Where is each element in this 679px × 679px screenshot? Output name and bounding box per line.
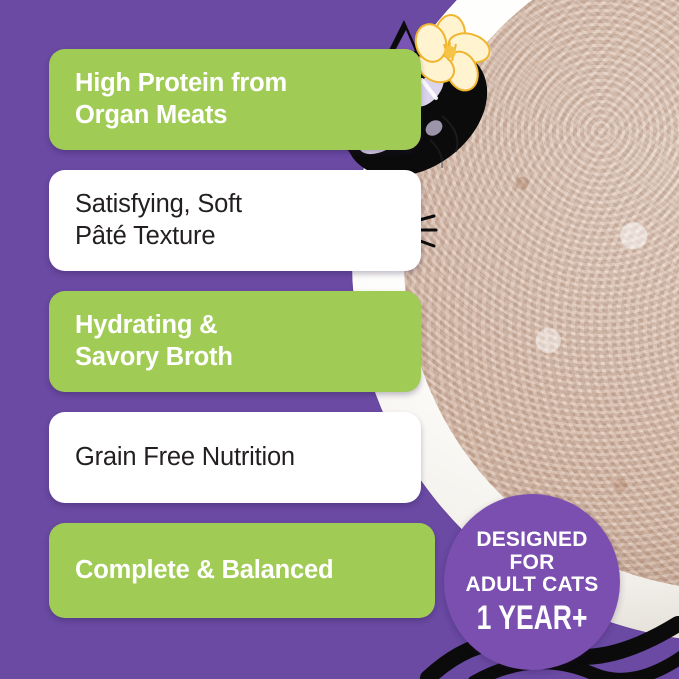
age-badge-line-1: DESIGNED — [476, 529, 587, 552]
benefit-label-grain-free: Grain Free Nutrition — [75, 442, 295, 474]
product-feature-graphic: High Protein from Organ Meats Satisfying… — [0, 0, 679, 679]
benefit-label-soft-pate: Satisfying, Soft Pâté Texture — [75, 189, 242, 252]
benefit-label-high-protein: High Protein from Organ Meats — [75, 68, 287, 131]
benefit-label-hydrating-broth: Hydrating & Savory Broth — [75, 310, 233, 373]
benefit-card-hydrating-broth: Hydrating & Savory Broth — [49, 291, 421, 392]
age-badge-years: 1 YEAR+ — [477, 601, 588, 635]
benefit-card-soft-pate: Satisfying, Soft Pâté Texture — [49, 170, 421, 271]
benefit-card-grain-free: Grain Free Nutrition — [49, 412, 421, 503]
age-badge-line-3: ADULT CATS — [465, 574, 598, 597]
benefit-card-complete-balanced: Complete & Balanced — [49, 523, 435, 618]
benefits-list: High Protein from Organ Meats Satisfying… — [49, 49, 421, 638]
benefit-label-complete-balanced: Complete & Balanced — [75, 555, 333, 587]
benefit-card-high-protein: High Protein from Organ Meats — [49, 49, 421, 150]
age-badge-line-2: FOR — [510, 552, 555, 575]
age-badge: DESIGNED FOR ADULT CATS 1 YEAR+ — [444, 494, 620, 670]
